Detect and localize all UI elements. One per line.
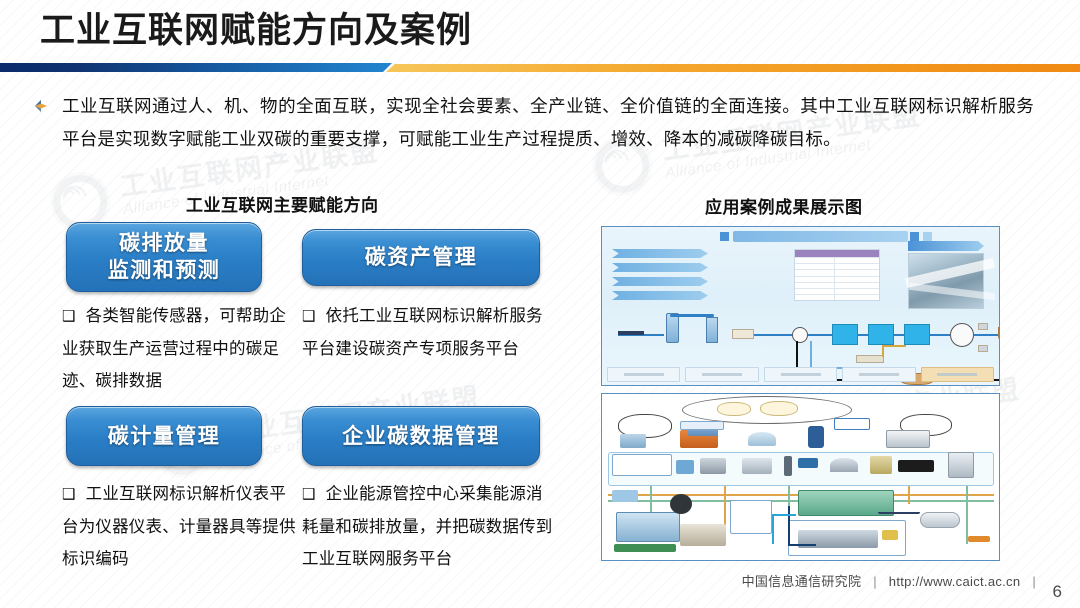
topo-signal-line bbox=[788, 506, 790, 546]
topo-drop-line bbox=[966, 486, 968, 544]
flow-box bbox=[732, 329, 754, 339]
topo-equipment-boiler bbox=[616, 512, 680, 542]
scada-data-table bbox=[794, 249, 880, 301]
pill-line: 监测和预测 bbox=[108, 259, 221, 282]
square-bullet-icon: ❑ bbox=[302, 308, 316, 325]
topo-device bbox=[748, 432, 776, 446]
direction-body-1: ❑依托工业互联网标识解析服务平台建设碳资产专项服务平台 bbox=[302, 300, 552, 365]
direction-pill-carbon-emission-monitoring[interactable]: 碳排放量监测和预测 bbox=[66, 222, 262, 292]
scada-title-marker bbox=[910, 232, 919, 241]
topo-label-box bbox=[680, 421, 724, 430]
scada-tab-bar[interactable] bbox=[607, 367, 994, 382]
topo-sensor bbox=[798, 458, 818, 468]
footer-separator: | bbox=[1032, 574, 1036, 589]
topo-equipment bbox=[968, 536, 990, 542]
scada-side-menu[interactable] bbox=[612, 249, 708, 305]
direction-body-3: ❑企业能源管控中心采集能源消耗量和碳排放量，并把碳数据传到工业互联网服务平台 bbox=[302, 478, 554, 575]
scada-menu-item[interactable] bbox=[612, 263, 708, 272]
left-section-heading: 工业互联网主要赋能方向 bbox=[186, 191, 379, 216]
page-title: 工业互联网赋能方向及案例 bbox=[40, 8, 472, 54]
pill-line: 企业碳数据管理 bbox=[342, 423, 500, 450]
scada-table-header bbox=[795, 250, 879, 257]
topo-sensor bbox=[870, 456, 892, 474]
footer-org: 中国信息通信研究院 bbox=[742, 574, 862, 589]
topo-indicator bbox=[882, 530, 898, 540]
flow-reactor bbox=[868, 324, 894, 345]
topo-equipment bbox=[920, 512, 960, 528]
divider-orange-segment bbox=[386, 64, 1080, 72]
scada-site-photo bbox=[908, 253, 984, 309]
case-image-iot-topology[interactable] bbox=[601, 393, 1000, 561]
topo-signal-line bbox=[788, 544, 816, 546]
pill-line: 碳计量管理 bbox=[108, 423, 221, 450]
direction-body-text: 依托工业互联网标识解析服务平台建设碳资产专项服务平台 bbox=[302, 307, 543, 358]
topo-device bbox=[620, 434, 646, 448]
direction-pill-carbon-metering-management[interactable]: 碳计量管理 bbox=[66, 406, 262, 466]
topo-sensor bbox=[700, 458, 726, 474]
diamond-arrow-bullet-icon bbox=[34, 90, 62, 156]
scada-title-bar bbox=[733, 231, 908, 242]
slide-root: 工业互联网产业联盟 Alliance of Industrial Interne… bbox=[0, 0, 1080, 608]
scada-table-row bbox=[795, 294, 879, 300]
topo-controller bbox=[948, 452, 974, 478]
flow-inlet bbox=[618, 331, 644, 335]
divider-blue-segment bbox=[0, 63, 392, 72]
flow-basin bbox=[998, 327, 1000, 343]
page-number: 6 bbox=[1053, 582, 1062, 602]
scada-tab[interactable] bbox=[607, 367, 680, 382]
topo-server bbox=[886, 430, 930, 448]
case-image-scada-dashboard[interactable] bbox=[601, 226, 1000, 386]
flow-reactor bbox=[832, 324, 858, 345]
flow-box bbox=[856, 355, 884, 363]
title-divider bbox=[0, 63, 1080, 72]
flow-clarifier bbox=[950, 323, 974, 347]
flow-tank bbox=[666, 313, 679, 343]
direction-pill-carbon-asset-management[interactable]: 碳资产管理 bbox=[302, 229, 540, 286]
flow-valve bbox=[792, 327, 808, 343]
topo-drop-line bbox=[788, 486, 790, 506]
square-bullet-icon: ❑ bbox=[62, 308, 76, 325]
scada-canvas bbox=[602, 227, 999, 385]
pill-line: 碳排放量 bbox=[119, 232, 209, 255]
scada-process-flow bbox=[610, 311, 991, 363]
scada-tab[interactable] bbox=[842, 367, 915, 382]
scada-menu-item[interactable] bbox=[612, 249, 708, 258]
lead-text: 工业互联网通过人、机、物的全面互联，实现全社会要素、全产业链、全价值链的全面连接… bbox=[62, 90, 1034, 156]
lead-paragraph: 工业互联网通过人、机、物的全面互联，实现全社会要素、全产业链、全价值链的全面连接… bbox=[34, 90, 1046, 156]
flow-pipe bbox=[808, 334, 832, 336]
footer: 中国信息通信研究院 | http://www.caict.ac.cn | bbox=[0, 571, 1044, 590]
topo-equipment-base bbox=[614, 544, 676, 552]
topo-conveyor bbox=[878, 492, 920, 514]
flow-reactor bbox=[904, 324, 930, 345]
footer-separator: | bbox=[873, 574, 877, 589]
topo-panel bbox=[730, 500, 772, 534]
scada-tab[interactable] bbox=[764, 367, 837, 382]
flow-pipe bbox=[858, 334, 868, 336]
topo-label-panel bbox=[612, 454, 672, 476]
scada-menu-item[interactable] bbox=[612, 277, 708, 286]
scada-title-marker bbox=[923, 232, 932, 241]
scada-title-marker bbox=[720, 232, 729, 241]
topo-app-bubble bbox=[717, 402, 751, 416]
scada-menu-item[interactable] bbox=[612, 291, 708, 300]
flow-pipe bbox=[974, 334, 998, 336]
direction-body-2: ❑工业互联网标识解析仪表平台为仪器仪表、计量器具等提供标识编码 bbox=[62, 478, 298, 575]
topo-sensor bbox=[784, 456, 792, 476]
flow-pipe bbox=[670, 314, 714, 317]
topo-sensor bbox=[676, 460, 694, 474]
scada-photo-label-bar bbox=[908, 241, 984, 251]
topo-gateway bbox=[898, 460, 934, 472]
flow-dosing-line bbox=[882, 345, 884, 357]
topo-sensor bbox=[742, 458, 772, 474]
topology-canvas bbox=[602, 394, 999, 560]
square-bullet-icon: ❑ bbox=[62, 486, 76, 503]
flow-sensor bbox=[978, 323, 988, 330]
right-section-heading: 应用案例成果展示图 bbox=[705, 193, 863, 218]
flow-tank bbox=[706, 317, 718, 343]
direction-body-text: 企业能源管控中心采集能源消耗量和碳排放量，并把碳数据传到工业互联网服务平台 bbox=[302, 485, 553, 568]
topo-app-bubble bbox=[760, 401, 798, 416]
direction-body-text: 工业互联网标识解析仪表平台为仪器仪表、计量器具等提供标识编码 bbox=[62, 485, 296, 568]
topo-operator-icon bbox=[808, 426, 824, 448]
pill-line: 碳资产管理 bbox=[365, 244, 478, 271]
direction-body-0: ❑各类智能传感器，可帮助企业获取生产运营过程中的碳足迹、碳排数据 bbox=[62, 300, 294, 397]
topo-pump bbox=[670, 494, 692, 514]
topo-equipment bbox=[680, 524, 726, 546]
flow-sensor bbox=[978, 345, 988, 352]
topo-sensor bbox=[830, 458, 858, 472]
flow-pipe bbox=[810, 341, 812, 369]
flow-pipe bbox=[754, 334, 792, 336]
footer-url[interactable]: http://www.caict.ac.cn bbox=[889, 574, 1021, 589]
direction-pill-enterprise-carbon-data-management[interactable]: 企业碳数据管理 bbox=[302, 406, 540, 466]
flow-pipe bbox=[930, 334, 950, 336]
scada-tab[interactable] bbox=[685, 367, 758, 382]
flow-pipe bbox=[894, 334, 904, 336]
topo-equipment bbox=[612, 490, 638, 502]
scada-tab-active[interactable] bbox=[921, 367, 994, 382]
topo-signal-line bbox=[772, 514, 774, 544]
flow-dosing-line bbox=[882, 345, 906, 347]
direction-body-text: 各类智能传感器，可帮助企业获取生产运营过程中的碳足迹、碳排数据 bbox=[62, 307, 286, 390]
square-bullet-icon: ❑ bbox=[302, 486, 316, 503]
topo-signal-line bbox=[772, 514, 796, 516]
topo-label-box bbox=[834, 418, 870, 430]
